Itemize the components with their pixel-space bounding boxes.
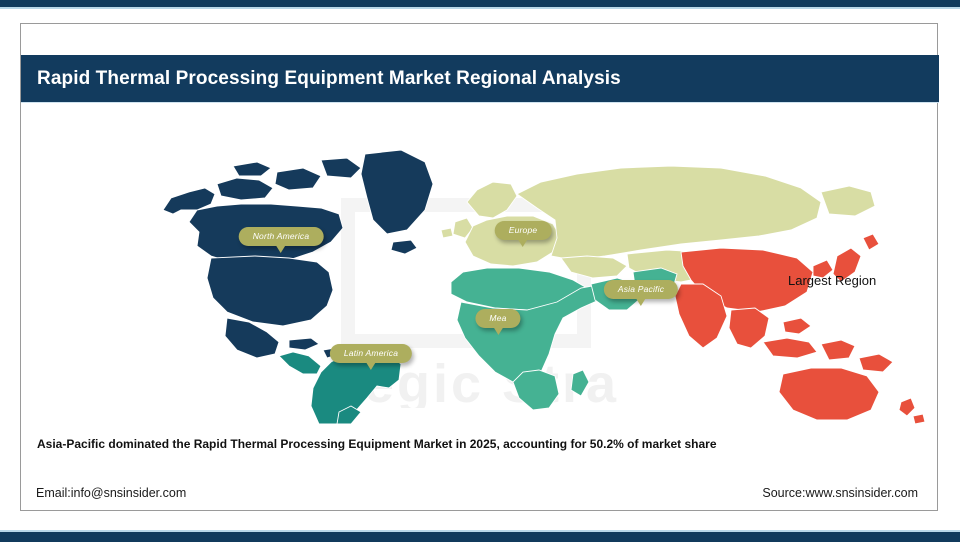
map-label-text: Asia Pacific [618, 284, 664, 294]
world-map [21, 106, 939, 424]
map-label-mea[interactable]: Mea [475, 309, 520, 328]
map-label-text: Mea [489, 313, 506, 323]
map-label-text: North America [253, 231, 310, 241]
page-title: Rapid Thermal Processing Equipment Marke… [21, 68, 621, 90]
legend: Largest Region [764, 273, 876, 288]
contact-email[interactable]: Email:info@snsinsider.com [36, 486, 186, 500]
map-label-text: Latin America [344, 348, 398, 358]
map-label-europe[interactable]: Europe [495, 221, 552, 240]
title-banner: Rapid Thermal Processing Equipment Marke… [21, 55, 939, 103]
source-url[interactable]: Source:www.snsinsider.com [762, 486, 918, 500]
bottom-accent-bar [0, 530, 960, 542]
map-label-text: Europe [509, 225, 538, 235]
report-card: Rapid Thermal Processing Equipment Marke… [20, 23, 938, 511]
map-label-latin-america[interactable]: Latin America [330, 344, 412, 363]
region-north-america [163, 150, 433, 358]
map-label-asia-pacific[interactable]: Asia Pacific [604, 280, 678, 299]
legend-swatch-largest-region [764, 273, 779, 288]
map-container: tegic Stra [21, 106, 939, 424]
insight-text: Asia-Pacific dominated the Rapid Thermal… [37, 437, 717, 451]
top-accent-bar [0, 0, 960, 9]
region-asia-pacific [675, 234, 925, 424]
map-label-north-america[interactable]: North America [239, 227, 324, 246]
legend-label-largest-region: Largest Region [788, 273, 876, 288]
